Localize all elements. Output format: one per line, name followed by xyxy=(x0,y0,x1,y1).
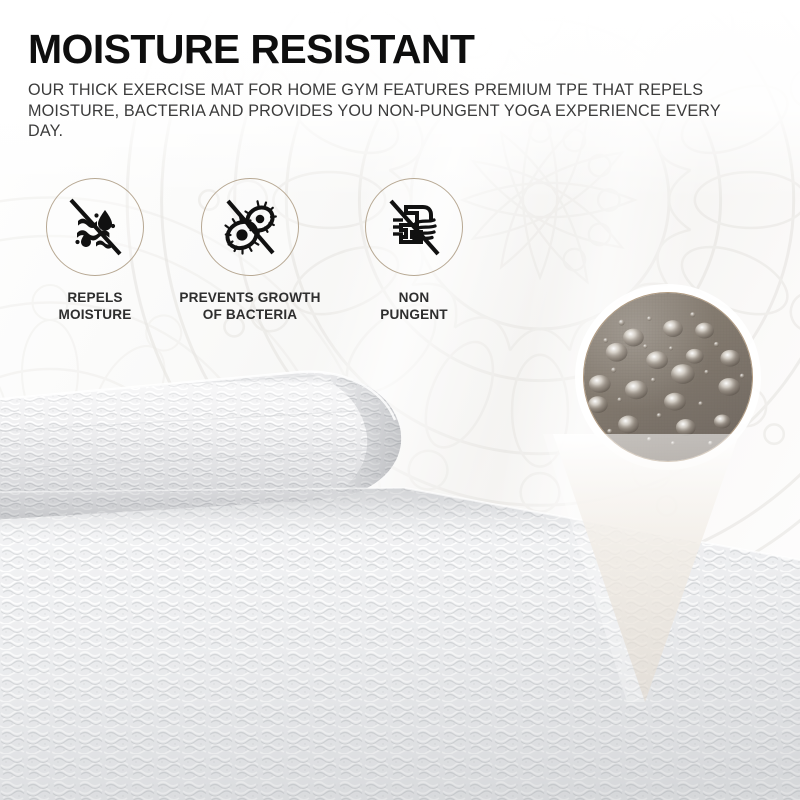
page-subtitle: OUR THICK EXERCISE MAT FOR HOME GYM FEAT… xyxy=(28,80,728,142)
feature-label: PREVENTS GROWTH OF BACTERIA xyxy=(179,290,320,323)
product-feature-graphic: MOISTURE RESISTANT OUR THICK EXERCISE MA… xyxy=(0,0,800,800)
no-water-droplets-icon xyxy=(46,178,144,276)
feature-label: REPELS MOISTURE xyxy=(59,290,132,323)
feature-prevents-bacteria: PREVENTS GROWTH OF BACTERIA xyxy=(160,178,340,323)
no-odor-icon xyxy=(365,178,463,276)
feature-non-pungent: NON PUNGENT xyxy=(340,178,488,323)
water-beading-zoom-circle xyxy=(583,292,753,462)
feature-label: NON PUNGENT xyxy=(380,290,448,323)
feature-list: REPELS MOISTURE xyxy=(30,178,488,323)
page-title: MOISTURE RESISTANT xyxy=(28,26,748,72)
header-block: MOISTURE RESISTANT OUR THICK EXERCISE MA… xyxy=(28,26,748,142)
feature-repels-moisture: REPELS MOISTURE xyxy=(30,178,160,323)
water-droplets xyxy=(584,293,752,461)
no-bacteria-icon xyxy=(201,178,299,276)
